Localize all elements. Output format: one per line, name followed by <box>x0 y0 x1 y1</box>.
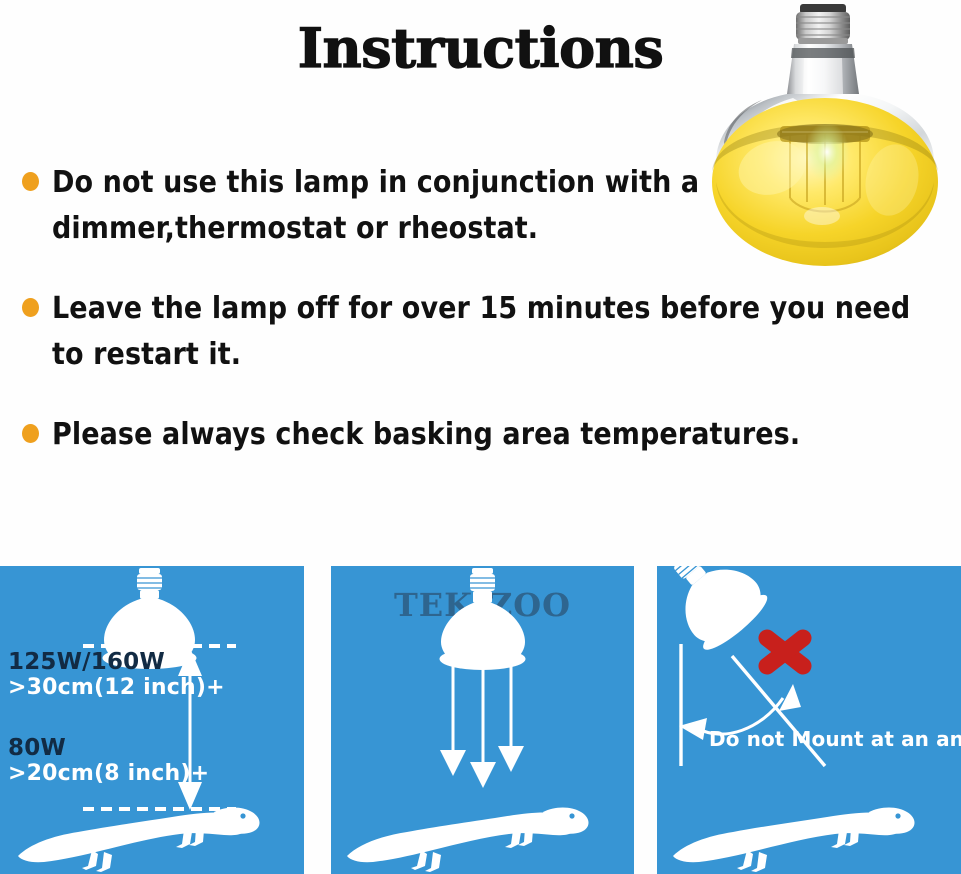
spec-distance-label: >30cm(12 inch)+ <box>8 675 225 700</box>
lizard-silhouette <box>673 808 915 873</box>
spec-distance-label: >20cm(8 inch)+ <box>8 761 209 786</box>
spec-wattage-label: 80W <box>8 736 209 761</box>
mounting-distance-diagram: 125W/160W >30cm(12 inch)+ 80W >20cm(8 in… <box>0 566 304 874</box>
instruction-text: Do not use this lamp in conjunction with… <box>52 160 712 252</box>
spec-wattage-label: 125W/160W <box>8 650 225 675</box>
tilted-bulb-icon <box>657 566 773 656</box>
angle-warning-caption: Do not Mount at an angle <box>709 727 961 751</box>
lizard-silhouette <box>347 808 589 873</box>
list-item: Leave the lamp off for over 15 minutes b… <box>0 286 940 378</box>
list-item: Do not use this lamp in conjunction with… <box>0 160 940 252</box>
instruction-text: Please always check basking area tempera… <box>52 412 932 458</box>
bullet-dot-icon <box>22 424 39 443</box>
instruction-text: Leave the lamp off for over 15 minutes b… <box>52 286 932 378</box>
mounting-angle-warning-diagram: Do not Mount at an angle <box>657 566 961 874</box>
list-item: Please always check basking area tempera… <box>0 412 940 458</box>
page-title: Instructions <box>0 18 961 78</box>
red-x-icon <box>767 638 803 666</box>
lizard-silhouette <box>18 808 260 873</box>
diagram-panels-row: 125W/160W >30cm(12 inch)+ 80W >20cm(8 in… <box>0 566 961 874</box>
bullet-dot-icon <box>22 298 39 317</box>
spec-block-low-wattage: 80W >20cm(8 inch)+ <box>8 736 209 786</box>
instructions-list: Do not use this lamp in conjunction with… <box>0 160 940 482</box>
spec-block-high-wattage: 125W/160W >30cm(12 inch)+ <box>8 650 225 700</box>
bullet-dot-icon <box>22 172 39 191</box>
heat-direction-diagram: TEKIZOO <box>331 566 634 874</box>
